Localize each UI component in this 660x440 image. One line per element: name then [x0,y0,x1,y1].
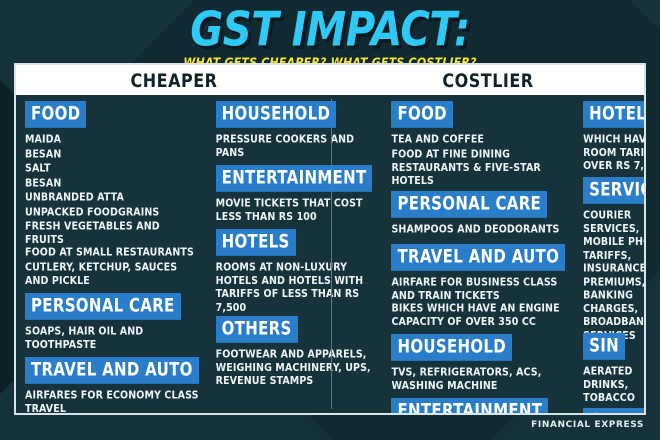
category-item-list: FOOTWEAR AND APPARELS, WEIGHING MACHINER… [216,348,373,383]
category-label: HOUSEHOLD [391,334,512,361]
list-item: UNPACKED FOODGRAINS [25,206,199,219]
category-group: FOODMAIDABESANSALTBESANUNBRANDED ATTAUNP… [25,101,199,284]
category-label: SIN [583,333,625,360]
category-item-list: WHICH HAVE ROOM TARIFFS OVER RS 7,500 [583,133,644,168]
panel-body: FOODMAIDABESANSALTBESANUNBRANDED ATTAUNP… [16,95,644,413]
category-item-list: MAIDABESANSALTBESANUNBRANDED ATTAUNPACKE… [25,133,199,284]
category-label: PERSONAL CARE [391,191,547,218]
category-item-list: COURIER SERVICES, MOBILE PHONE TARIFFS, … [583,209,644,324]
content-panel: CHEAPER COSTLIER FOODMAIDABESANSALTBESAN… [14,63,646,415]
category-group: SINAERATED DRINKS, TOBACCO [583,333,644,400]
category-group: TRAVEL AND AUTOAIRFARE FOR BUSINESS CLAS… [391,244,565,325]
column-headings-bar: CHEAPER COSTLIER [16,65,644,95]
category-group: FOODTEA AND COFFEEFOOD AT FINE DINING RE… [391,101,565,182]
list-item: SOAPS, HAIR OIL AND TOOTHPASTE [25,325,199,352]
category-label: HOUSEHOLD [216,101,337,128]
costlier-section: FOODTEA AND COFFEEFOOD AT FINE DINING RE… [380,95,644,413]
list-item: SHAMPOOS AND DEODORANTS [391,223,565,236]
category-group: HOUSEHOLDTVS, REFRIGERATORS, ACS, WASHIN… [391,334,565,389]
category-item-list: MOVIE TICKETS THAT COST LESS THAN RS 100 [216,197,373,220]
category-label: FOOD [25,101,86,128]
heading-cheaper: CHEAPER [16,62,332,97]
list-item: FOOD AT SMALL RESTAURANTS [25,246,199,259]
list-item: BIKES WHICH HAVE AN ENGINE CAPACITY OF O… [391,302,565,329]
cheaper-column-one: FOODMAIDABESANSALTBESANUNBRANDED ATTAUNP… [16,101,207,413]
category-item-list: ROOMS AT NON-LUXURY HOTELS AND HOTELS WI… [216,261,373,307]
category-group: ENTERTAINMENTMOVIE TICKETS THAT COST LES… [216,165,373,220]
list-item: FRESH VEGETABLES AND FRUITS [25,220,199,247]
list-item: CUTLERY, KETCHUP, SAUCES AND PICKLE [25,261,199,288]
list-item: MOVIE TICKETS THAT COST LESS THAN RS 100 [216,197,373,224]
list-item: FOOD AT FINE DINING RESTAURANTS & FIVE-S… [391,148,565,188]
list-item: ROOMS AT NON-LUXURY HOTELS AND HOTELS WI… [216,261,373,314]
category-label: TRAVEL AND AUTO [391,244,565,271]
list-item: BESAN [25,148,199,161]
list-item: AIRFARES FOR ECONOMY CLASS TRAVEL [25,389,199,414]
category-group: ENTERTAINMENTMOVIE TICKETS ABOVE RS 100 [391,398,565,414]
list-item: UNBRANDED ATTA [25,191,199,204]
category-label: OTHERS [583,408,644,413]
heading-costlier: COSTLIER [332,62,644,97]
list-item: AERATED DRINKS, TOBACCO [583,365,644,405]
list-item: WHICH HAVE ROOM TARIFFS OVER RS 7,500 [583,133,644,173]
category-item-list: TVS, REFRIGERATORS, ACS, WASHING MACHINE [391,366,565,389]
page-title: GST IMPACT: [0,4,660,54]
list-item: MAIDA [25,133,199,146]
category-group: HOUSEHOLDPRESSURE COOKERS AND PANS [216,101,373,156]
category-label: TRAVEL AND AUTO [25,357,199,384]
list-item: AIRFARE FOR BUSINESS CLASS AND TRAIN TIC… [391,276,565,303]
category-label: HOTELS [583,101,644,128]
costlier-column-one: FOODTEA AND COFFEEFOOD AT FINE DINING RE… [380,101,573,413]
cheaper-column-two: HOUSEHOLDPRESSURE COOKERS AND PANSENTERT… [207,101,381,413]
category-label: ENTERTAINMENT [216,165,373,192]
category-label: SERVICES [583,177,644,204]
list-item: PRESSURE COOKERS AND PANS [216,133,373,160]
category-label: HOTELS [216,229,296,256]
category-item-list: AERATED DRINKS, TOBACCO [583,365,644,400]
list-item: TEA AND COFFEE [391,133,565,146]
list-item: FOOTWEAR AND APPARELS, WEIGHING MACHINER… [216,348,373,388]
category-item-list: AIRFARE FOR BUSINESS CLASS AND TRAIN TIC… [391,276,565,325]
category-group: PERSONAL CARESHAMPOOS AND DEODORANTS [391,191,565,235]
category-group: PERSONAL CARESOAPS, HAIR OIL AND TOOTHPA… [25,293,199,348]
costlier-column-two: HOTELSWHICH HAVE ROOM TARIFFS OVER RS 7,… [573,101,644,413]
category-label: OTHERS [216,316,298,343]
category-group: OTHERSTUITION FEES, BUYING A FLAT/ SHOP [583,408,644,413]
category-label: ENTERTAINMENT [391,398,548,414]
cheaper-section: FOODMAIDABESANSALTBESANUNBRANDED ATTAUNP… [16,95,380,413]
category-item-list: AIRFARES FOR ECONOMY CLASS TRAVELBIKES O… [25,389,199,414]
category-group: TRAVEL AND AUTOAIRFARES FOR ECONOMY CLAS… [25,357,199,414]
category-group: OTHERSFOOTWEAR AND APPARELS, WEIGHING MA… [216,316,373,383]
category-item-list: SHAMPOOS AND DEODORANTS [391,223,565,235]
list-item: BESAN [25,177,199,190]
source-credit: FINANCIAL EXPRESS [531,420,644,430]
category-group: HOTELSWHICH HAVE ROOM TARIFFS OVER RS 7,… [583,101,644,168]
category-group: SERVICESCOURIER SERVICES, MOBILE PHONE T… [583,177,644,324]
category-item-list: TEA AND COFFEEFOOD AT FINE DINING RESTAU… [391,133,565,182]
list-item: TVS, REFRIGERATORS, ACS, WASHING MACHINE [391,366,565,393]
category-item-list: SOAPS, HAIR OIL AND TOOTHPASTE [25,325,199,348]
category-label: PERSONAL CARE [25,293,181,320]
list-item: SALT [25,162,199,175]
infographic-header: GST IMPACT: WHAT GETS CHEAPER? WHAT GETS… [0,0,660,62]
category-item-list: PRESSURE COOKERS AND PANS [216,133,373,156]
category-label: FOOD [391,101,452,128]
category-group: HOTELSROOMS AT NON-LUXURY HOTELS AND HOT… [216,229,373,307]
list-item: COURIER SERVICES, MOBILE PHONE TARIFFS, … [583,209,644,342]
